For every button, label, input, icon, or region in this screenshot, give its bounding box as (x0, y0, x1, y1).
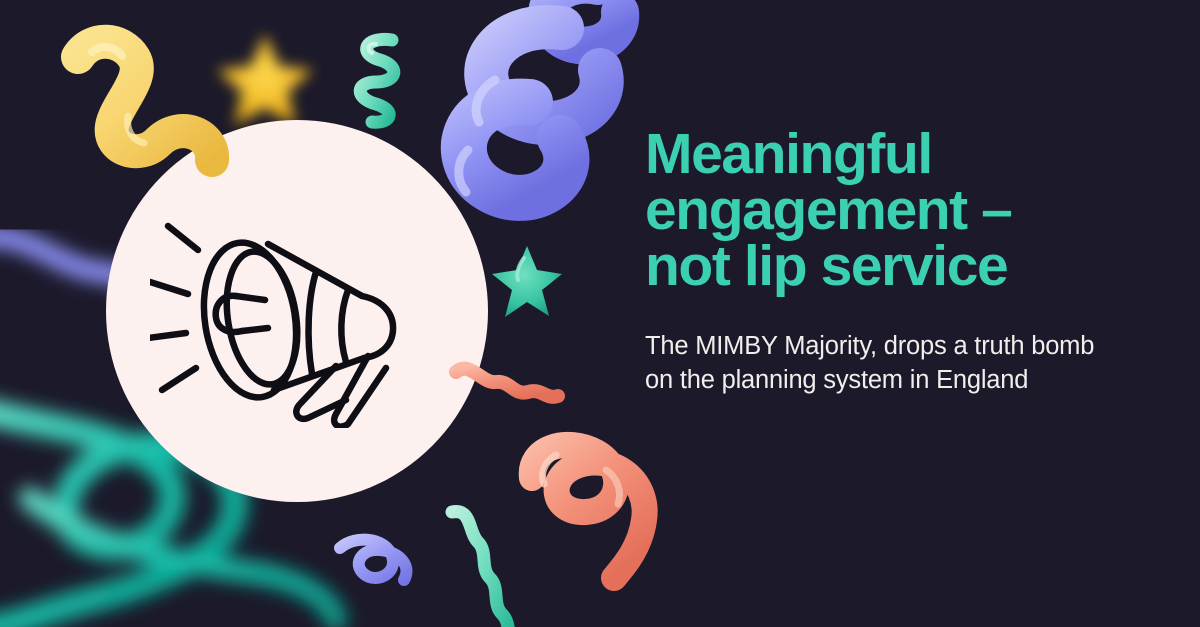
mint-wave-squiggle (452, 512, 512, 627)
text-block: Meaningful engagement – not lip service … (645, 126, 1145, 397)
green-star-icon (492, 246, 562, 317)
gold-star-icon (217, 34, 313, 126)
promo-banner: Meaningful engagement – not lip service … (0, 0, 1200, 627)
page-subtitle: The MIMBY Majority, drops a truth bomb o… (645, 329, 1145, 397)
periwinkle-small-spiral (340, 540, 407, 580)
megaphone-icon (150, 178, 420, 428)
page-title: Meaningful engagement – not lip service (645, 126, 1145, 294)
mint-coil-spring (360, 39, 394, 122)
periwinkle-large-spiral (459, 0, 621, 198)
coral-large-spiral (532, 445, 645, 578)
yellow-zigzag-squiggle (78, 42, 212, 160)
